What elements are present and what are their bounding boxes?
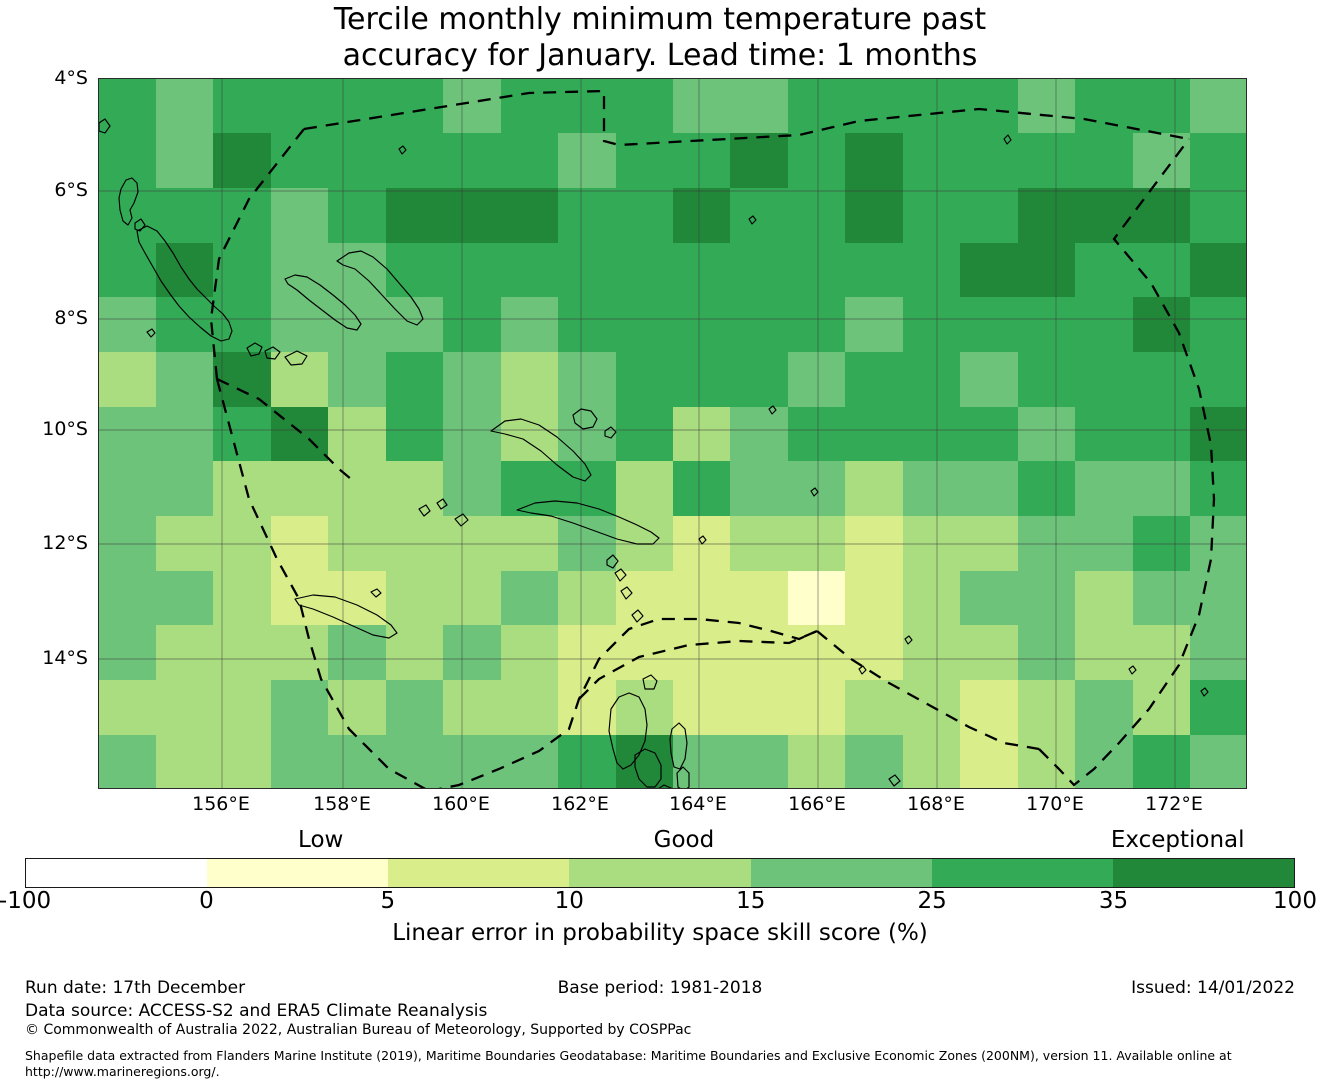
latitude-tick-label: 14°S	[42, 649, 88, 668]
colorbar-tick-label: 10	[509, 890, 629, 913]
data-source-text: Data source: ACCESS-S2 and ERA5 Climate …	[25, 1001, 487, 1021]
title-line-1: Tercile monthly minimum temperature past	[0, 2, 1320, 38]
longitude-tick-label: 168°E	[891, 795, 981, 814]
latitude-tick-label: 12°S	[42, 534, 88, 553]
colorbar-segment	[932, 859, 1113, 887]
colorbar-tick-label: 15	[691, 890, 811, 913]
colorbar-segment	[569, 859, 750, 887]
eez-boundary-dashed	[211, 91, 1214, 789]
colorbar-tick-label: 0	[146, 890, 266, 913]
colorbar-segment	[26, 859, 207, 887]
colorbar-segment	[388, 859, 569, 887]
map-vector-overlay	[99, 79, 1247, 789]
longitude-tick-label: 158°E	[297, 795, 387, 814]
issued-date-text: Issued: 14/01/2022	[1131, 978, 1295, 998]
page-title: Tercile monthly minimum temperature past…	[0, 2, 1320, 74]
longitude-tick-label: 162°E	[535, 795, 625, 814]
longitude-tick-label: 156°E	[176, 795, 266, 814]
longitude-tick-label: 170°E	[1010, 795, 1100, 814]
longitude-tick-label: 160°E	[416, 795, 506, 814]
colorbar-category-label: Low	[298, 829, 343, 852]
coastlines-group	[99, 119, 1208, 789]
colorbar-category-label: Good	[654, 829, 715, 852]
shapefile-attribution: Shapefile data extracted from Flanders M…	[25, 1048, 1232, 1080]
colorbar-segment	[1113, 859, 1294, 887]
colorbar-tick-label: -100	[0, 890, 85, 913]
colorbar-tick-label: 35	[1054, 890, 1174, 913]
title-line-2: accuracy for January. Lead time: 1 month…	[0, 38, 1320, 74]
shapefile-line-1: Shapefile data extracted from Flanders M…	[25, 1048, 1232, 1064]
colorbar-category-label: Exceptional	[1111, 829, 1245, 852]
copyright-text: © Commonwealth of Australia 2022, Austra…	[25, 1022, 691, 1038]
latitude-tick-label: 10°S	[42, 420, 88, 439]
footer-top-row: Run date: 17th December Base period: 198…	[0, 978, 1320, 1000]
base-period-text: Base period: 1981-2018	[0, 978, 1320, 998]
colorbar-gradient	[25, 858, 1295, 888]
latitude-tick-label: 6°S	[54, 181, 88, 200]
latitude-tick-label: 8°S	[54, 309, 88, 328]
map-plot-area	[98, 78, 1247, 789]
longitude-tick-label: 164°E	[653, 795, 743, 814]
colorbar-axis-label: Linear error in probability space skill …	[0, 920, 1320, 946]
colorbar-segment	[207, 859, 388, 887]
colorbar-tick-label: 100	[1235, 890, 1320, 913]
longitude-tick-label: 166°E	[772, 795, 862, 814]
latitude-tick-label: 4°S	[54, 69, 88, 88]
colorbar-tick-label: 25	[872, 890, 992, 913]
colorbar	[25, 858, 1295, 888]
colorbar-tick-label: 5	[328, 890, 448, 913]
colorbar-segment	[751, 859, 932, 887]
longitude-tick-label: 172°E	[1129, 795, 1219, 814]
shapefile-line-2: http://www.marineregions.org/.	[25, 1064, 1232, 1080]
